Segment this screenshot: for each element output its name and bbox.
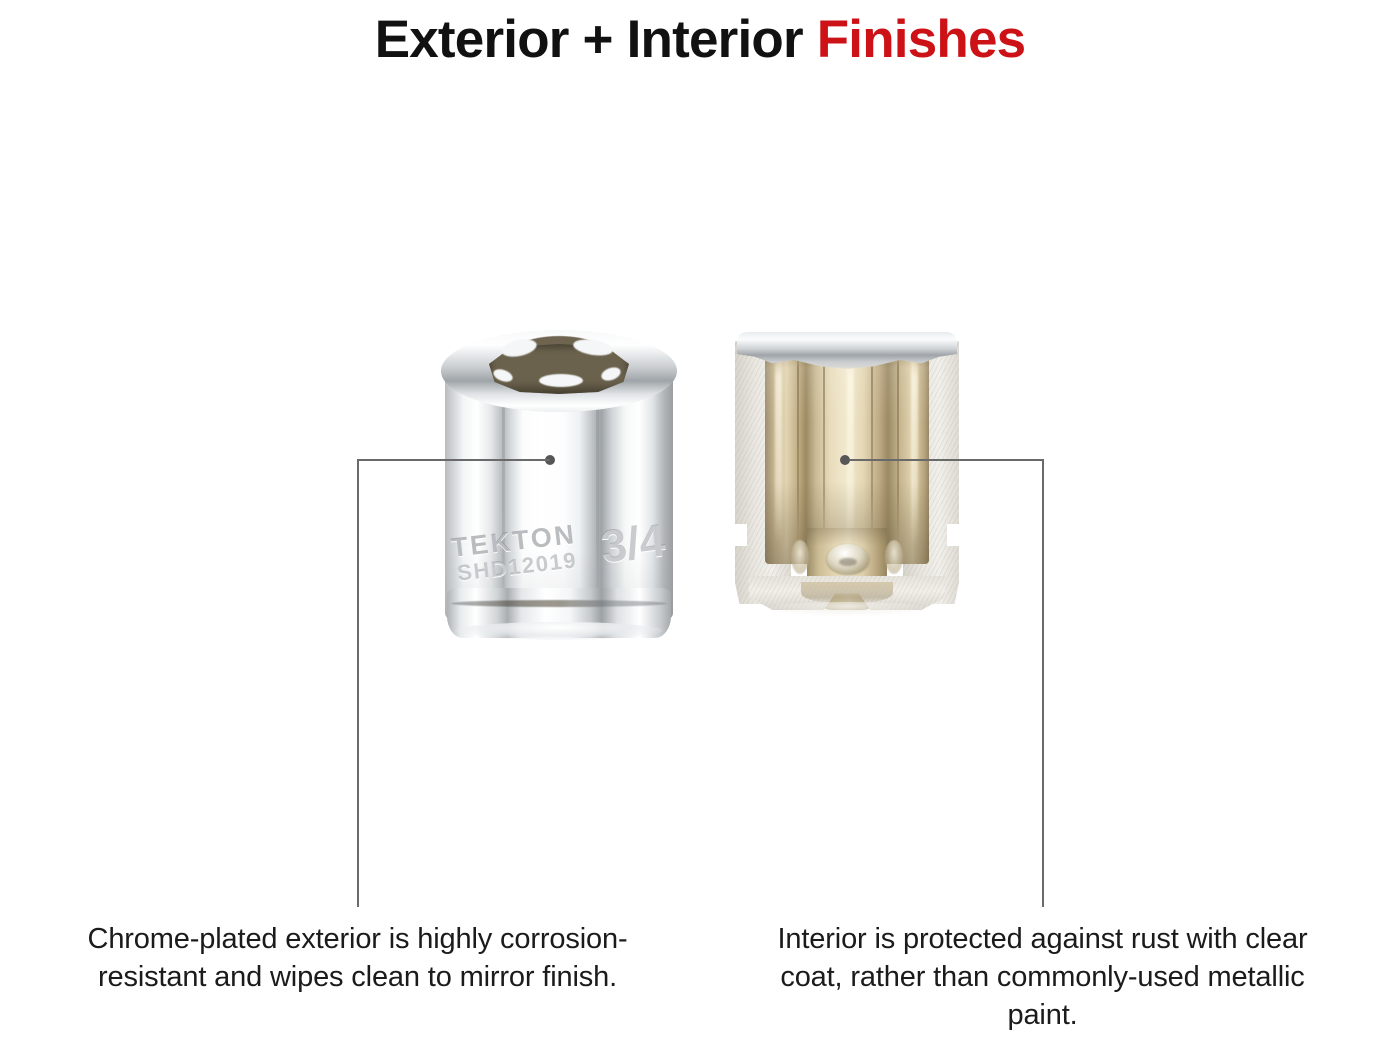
cutaway-base-notch bbox=[947, 524, 959, 546]
cutaway-socket-shadow bbox=[765, 602, 931, 616]
cutaway-base-notch bbox=[735, 524, 747, 546]
cutaway-flute-seam bbox=[797, 352, 799, 548]
cutaway-socket-image bbox=[735, 332, 959, 614]
callout-line-vertical-interior bbox=[1042, 459, 1044, 907]
cutaway-flute-highlight bbox=[775, 354, 782, 544]
chrome-socket-base-shadow bbox=[455, 622, 663, 640]
page-title: Exterior + Interior Finishes bbox=[0, 9, 1400, 70]
cutaway-detent-dimple bbox=[885, 540, 903, 574]
cutaway-flute-highlight bbox=[847, 354, 854, 544]
socket-size-engraving: 3/4 bbox=[598, 513, 668, 574]
chrome-socket-image: 3/4 TEKTON SHD12019 bbox=[441, 330, 677, 638]
chrome-socket-base-seam bbox=[451, 600, 667, 607]
cutaway-flute-highlight bbox=[911, 354, 918, 544]
cutaway-floor-arc bbox=[801, 582, 893, 604]
cutaway-detent-dimple bbox=[791, 540, 809, 574]
page-title-accent: Finishes bbox=[817, 10, 1026, 69]
cutaway-flute-seam bbox=[871, 352, 873, 548]
caption-interior: Interior is protected against rust with … bbox=[760, 920, 1325, 1034]
chrome-highlight bbox=[539, 374, 583, 387]
page-title-black: Exterior + Interior bbox=[375, 10, 817, 69]
callout-line-vertical-exterior bbox=[357, 459, 359, 907]
caption-exterior: Chrome-plated exterior is highly corrosi… bbox=[75, 920, 640, 996]
cutaway-flute-seam bbox=[823, 352, 825, 548]
infographic-page: Exterior + Interior Finishes 3/4 TEKTON … bbox=[0, 0, 1400, 1050]
cutaway-flute-seam bbox=[897, 352, 899, 548]
cutaway-ball-detent-core bbox=[839, 558, 857, 566]
